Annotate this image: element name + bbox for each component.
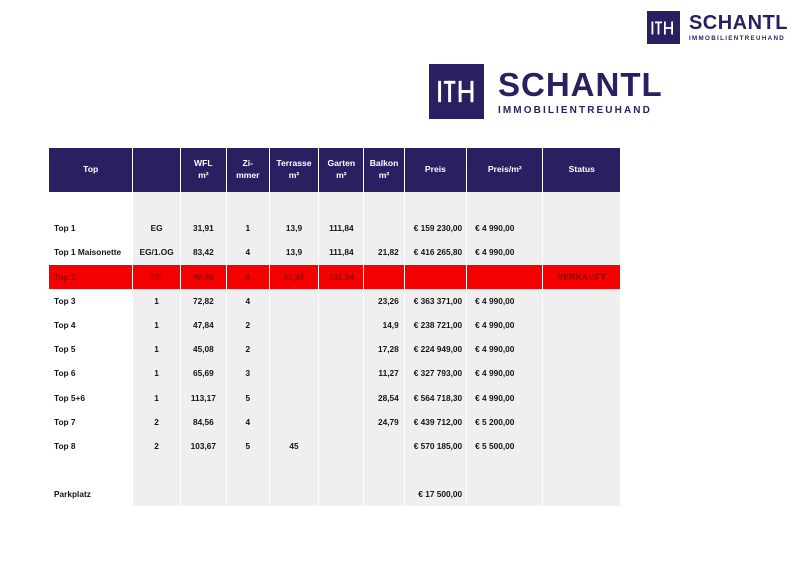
cell-top	[49, 458, 132, 482]
cell-bal: 21,82	[364, 240, 403, 264]
table-row[interactable]: Top 3172,82423,26€ 363 371,00€ 4 990,00	[49, 289, 620, 313]
cell-top: Top 1	[49, 216, 132, 240]
cell-gar: 111,84	[319, 216, 363, 240]
cell-ter	[270, 482, 319, 506]
unit-price-table: TopWFLm²Zi-mmerTerrassem²Gartenm²Balkonm…	[48, 148, 621, 506]
cell-bal: 17,28	[364, 337, 403, 361]
brand-wordmark: SCHANTL IMMOBILIENTREUHAND	[498, 68, 663, 116]
cell-preis	[405, 192, 466, 216]
cell-status	[543, 240, 620, 264]
cell-wfl	[181, 482, 226, 506]
column-header-unit: m²	[183, 170, 224, 182]
cell-ter	[270, 410, 319, 434]
cell-status	[543, 458, 620, 482]
cell-preis	[405, 265, 466, 289]
column-header-preis[interactable]: Preis	[405, 148, 466, 192]
table-spacer-row	[49, 192, 620, 216]
cell-ter: 22,49	[270, 265, 319, 289]
cell-preis	[405, 458, 466, 482]
cell-bal	[364, 265, 403, 289]
brand-logo-main: SCHANTL IMMOBILIENTREUHAND	[429, 64, 663, 119]
cell-gar	[319, 337, 363, 361]
cell-lage	[133, 192, 179, 216]
table-row[interactable]: Top 82103,67545€ 570 185,00€ 5 500,00	[49, 434, 620, 458]
cell-top: Top 4	[49, 313, 132, 337]
cell-lage: 1	[133, 313, 179, 337]
cell-zimmer: 2	[227, 313, 269, 337]
cell-wfl: 45,08	[181, 337, 226, 361]
cell-bal: 24,79	[364, 410, 403, 434]
cell-status	[543, 410, 620, 434]
cell-preis: € 224 949,00	[405, 337, 466, 361]
table-row[interactable]: Top 6165,69311,27€ 327 793,00€ 4 990,00	[49, 361, 620, 385]
cell-preis: € 363 371,00	[405, 289, 466, 313]
cell-bal: 11,27	[364, 361, 403, 385]
cell-zimmer: 3	[227, 361, 269, 385]
cell-ppm: € 4 990,00	[467, 361, 542, 385]
cell-top: Parkplatz	[49, 482, 132, 506]
cell-top	[49, 192, 132, 216]
column-header-unit: m²	[366, 170, 401, 182]
cell-top: Top 8	[49, 434, 132, 458]
cell-gar	[319, 386, 363, 410]
cell-preis: € 327 793,00	[405, 361, 466, 385]
column-header-status[interactable]: Status	[543, 148, 620, 192]
brand-wordmark: SCHANTL IMMOBILIENTREUHAND	[689, 13, 788, 42]
column-header-label: Terrasse	[272, 158, 317, 170]
cell-preis: € 238 721,00	[405, 313, 466, 337]
cell-ter	[270, 361, 319, 385]
cell-top: Top 7	[49, 410, 132, 434]
cell-ter	[270, 313, 319, 337]
cell-wfl: 31,91	[181, 216, 226, 240]
cell-lage: 1	[133, 361, 179, 385]
cell-ppm	[467, 458, 542, 482]
brand-subtitle: IMMOBILIENTREUHAND	[498, 106, 663, 116]
cell-wfl: 83,42	[181, 240, 226, 264]
table-row[interactable]: Parkplatz€ 17 500,00	[49, 482, 620, 506]
cell-bal: 14,9	[364, 313, 403, 337]
cell-status	[543, 289, 620, 313]
column-header-top[interactable]: Top	[49, 148, 132, 192]
table-body: Top 1EG31,91113,9111,84€ 159 230,00€ 4 9…	[49, 192, 620, 506]
cell-gar	[319, 482, 363, 506]
cell-gar	[319, 361, 363, 385]
table-row[interactable]: Top 5+61113,17528,54€ 564 718,30€ 4 990,…	[49, 386, 620, 410]
cell-preis: € 564 718,30	[405, 386, 466, 410]
cell-top: Top 3	[49, 289, 132, 313]
column-header-zimmer[interactable]: Zi-mmer	[227, 148, 269, 192]
column-header-label: Top	[51, 164, 130, 176]
column-header-unit: m²	[321, 170, 361, 182]
cell-bal	[364, 458, 403, 482]
cell-zimmer: 4	[227, 410, 269, 434]
cell-zimmer	[227, 192, 269, 216]
column-header-gar[interactable]: Gartenm²	[319, 148, 363, 192]
cell-preis: € 159 230,00	[405, 216, 466, 240]
cell-gar	[319, 458, 363, 482]
column-header-label: Balkon	[366, 158, 401, 170]
cell-lage: EG/1.OG	[133, 240, 179, 264]
cell-zimmer: 2	[227, 337, 269, 361]
cell-ter	[270, 337, 319, 361]
cell-zimmer: 4	[227, 265, 269, 289]
cell-zimmer: 4	[227, 240, 269, 264]
cell-lage: 1	[133, 337, 179, 361]
cell-ter: 13,9	[270, 240, 319, 264]
cell-status	[543, 313, 620, 337]
cell-gar: 111,84	[319, 240, 363, 264]
column-header-unit: mmer	[229, 170, 267, 182]
column-header-ppm[interactable]: Preis/m²	[467, 148, 542, 192]
cell-zimmer: 5	[227, 434, 269, 458]
cell-ter	[270, 386, 319, 410]
cell-wfl	[181, 192, 226, 216]
cell-gar	[319, 410, 363, 434]
ith-monogram-icon	[429, 64, 484, 119]
cell-lage: 2	[133, 410, 179, 434]
cell-ppm: € 4 990,00	[467, 216, 542, 240]
cell-top: Top 5+6	[49, 386, 132, 410]
cell-status	[543, 386, 620, 410]
cell-ter: 13,9	[270, 216, 319, 240]
table-row[interactable]: Top 1EG31,91113,9111,84€ 159 230,00€ 4 9…	[49, 216, 620, 240]
cell-lage: EG	[133, 216, 179, 240]
cell-ppm: € 4 990,00	[467, 240, 542, 264]
cell-top: Top 5	[49, 337, 132, 361]
cell-bal: 28,54	[364, 386, 403, 410]
column-header-lage[interactable]	[133, 148, 179, 192]
column-header-label: Garten	[321, 158, 361, 170]
cell-gar	[319, 434, 363, 458]
column-header-unit: m²	[272, 170, 317, 182]
cell-status	[543, 192, 620, 216]
brand-name: SCHANTL	[689, 13, 788, 33]
cell-zimmer	[227, 458, 269, 482]
cell-wfl: 103,67	[181, 434, 226, 458]
cell-lage	[133, 482, 179, 506]
cell-lage: 2	[133, 434, 179, 458]
table-row[interactable]: Top 5145,08217,28€ 224 949,00€ 4 990,00	[49, 337, 620, 361]
column-header-ter[interactable]: Terrassem²	[270, 148, 319, 192]
cell-top: Top 2	[49, 265, 132, 289]
column-header-label: Zi-	[229, 158, 267, 170]
cell-wfl: 84,56	[181, 410, 226, 434]
cell-bal	[364, 482, 403, 506]
column-header-wfl[interactable]: WFLm²	[181, 148, 226, 192]
cell-wfl: 65,69	[181, 361, 226, 385]
column-header-label: WFL	[183, 158, 224, 170]
cell-preis: € 439 712,00	[405, 410, 466, 434]
cell-status: VERKAUFT	[543, 265, 620, 289]
cell-wfl: 113,17	[181, 386, 226, 410]
cell-gar: 231,34	[319, 265, 363, 289]
cell-status	[543, 337, 620, 361]
cell-ppm: € 5 200,00	[467, 410, 542, 434]
cell-wfl: 72,82	[181, 289, 226, 313]
ith-monogram-icon	[647, 11, 680, 44]
cell-zimmer: 4	[227, 289, 269, 313]
cell-bal	[364, 192, 403, 216]
table-row[interactable]: Top 1 MaisonetteEG/1.OG83,42413,9111,842…	[49, 240, 620, 264]
table-row[interactable]: Top 2EG90,88422,49231,34VERKAUFT	[49, 265, 620, 289]
cell-zimmer	[227, 482, 269, 506]
cell-ppm: € 4 990,00	[467, 289, 542, 313]
cell-ter	[270, 458, 319, 482]
cell-ppm: € 4 990,00	[467, 386, 542, 410]
cell-ppm	[467, 265, 542, 289]
cell-zimmer: 1	[227, 216, 269, 240]
cell-status	[543, 434, 620, 458]
cell-bal: 23,26	[364, 289, 403, 313]
cell-gar	[319, 192, 363, 216]
cell-lage: EG	[133, 265, 179, 289]
cell-wfl: 47,84	[181, 313, 226, 337]
cell-bal	[364, 216, 403, 240]
column-header-bal[interactable]: Balkonm²	[364, 148, 403, 192]
cell-wfl: 90,88	[181, 265, 226, 289]
cell-lage	[133, 458, 179, 482]
cell-ppm: € 4 990,00	[467, 337, 542, 361]
column-header-label: Status	[545, 164, 618, 176]
cell-gar	[319, 313, 363, 337]
cell-status	[543, 482, 620, 506]
cell-preis: € 17 500,00	[405, 482, 466, 506]
table-row[interactable]: Top 7284,56424,79€ 439 712,00€ 5 200,00	[49, 410, 620, 434]
column-header-label: Preis	[407, 164, 464, 176]
brand-name: SCHANTL	[498, 68, 663, 101]
cell-ppm	[467, 482, 542, 506]
cell-status	[543, 361, 620, 385]
table-header: TopWFLm²Zi-mmerTerrassem²Gartenm²Balkonm…	[49, 148, 620, 192]
cell-ter	[270, 192, 319, 216]
cell-ppm: € 5 500,00	[467, 434, 542, 458]
brand-subtitle: IMMOBILIENTREUHAND	[689, 36, 788, 42]
cell-gar	[319, 289, 363, 313]
cell-wfl	[181, 458, 226, 482]
cell-ppm: € 4 990,00	[467, 313, 542, 337]
brand-logo-corner: SCHANTL IMMOBILIENTREUHAND	[647, 11, 788, 44]
cell-lage: 1	[133, 386, 179, 410]
header-row: TopWFLm²Zi-mmerTerrassem²Gartenm²Balkonm…	[49, 148, 620, 192]
cell-top: Top 1 Maisonette	[49, 240, 132, 264]
table-row[interactable]: Top 4147,84214,9€ 238 721,00€ 4 990,00	[49, 313, 620, 337]
cell-lage: 1	[133, 289, 179, 313]
cell-ppm	[467, 192, 542, 216]
cell-zimmer: 5	[227, 386, 269, 410]
cell-status	[543, 216, 620, 240]
cell-ter: 45	[270, 434, 319, 458]
cell-top: Top 6	[49, 361, 132, 385]
cell-preis: € 416 265,80	[405, 240, 466, 264]
cell-ter	[270, 289, 319, 313]
cell-bal	[364, 434, 403, 458]
table-spacer-row	[49, 458, 620, 482]
column-header-label: Preis/m²	[469, 164, 540, 176]
cell-preis: € 570 185,00	[405, 434, 466, 458]
